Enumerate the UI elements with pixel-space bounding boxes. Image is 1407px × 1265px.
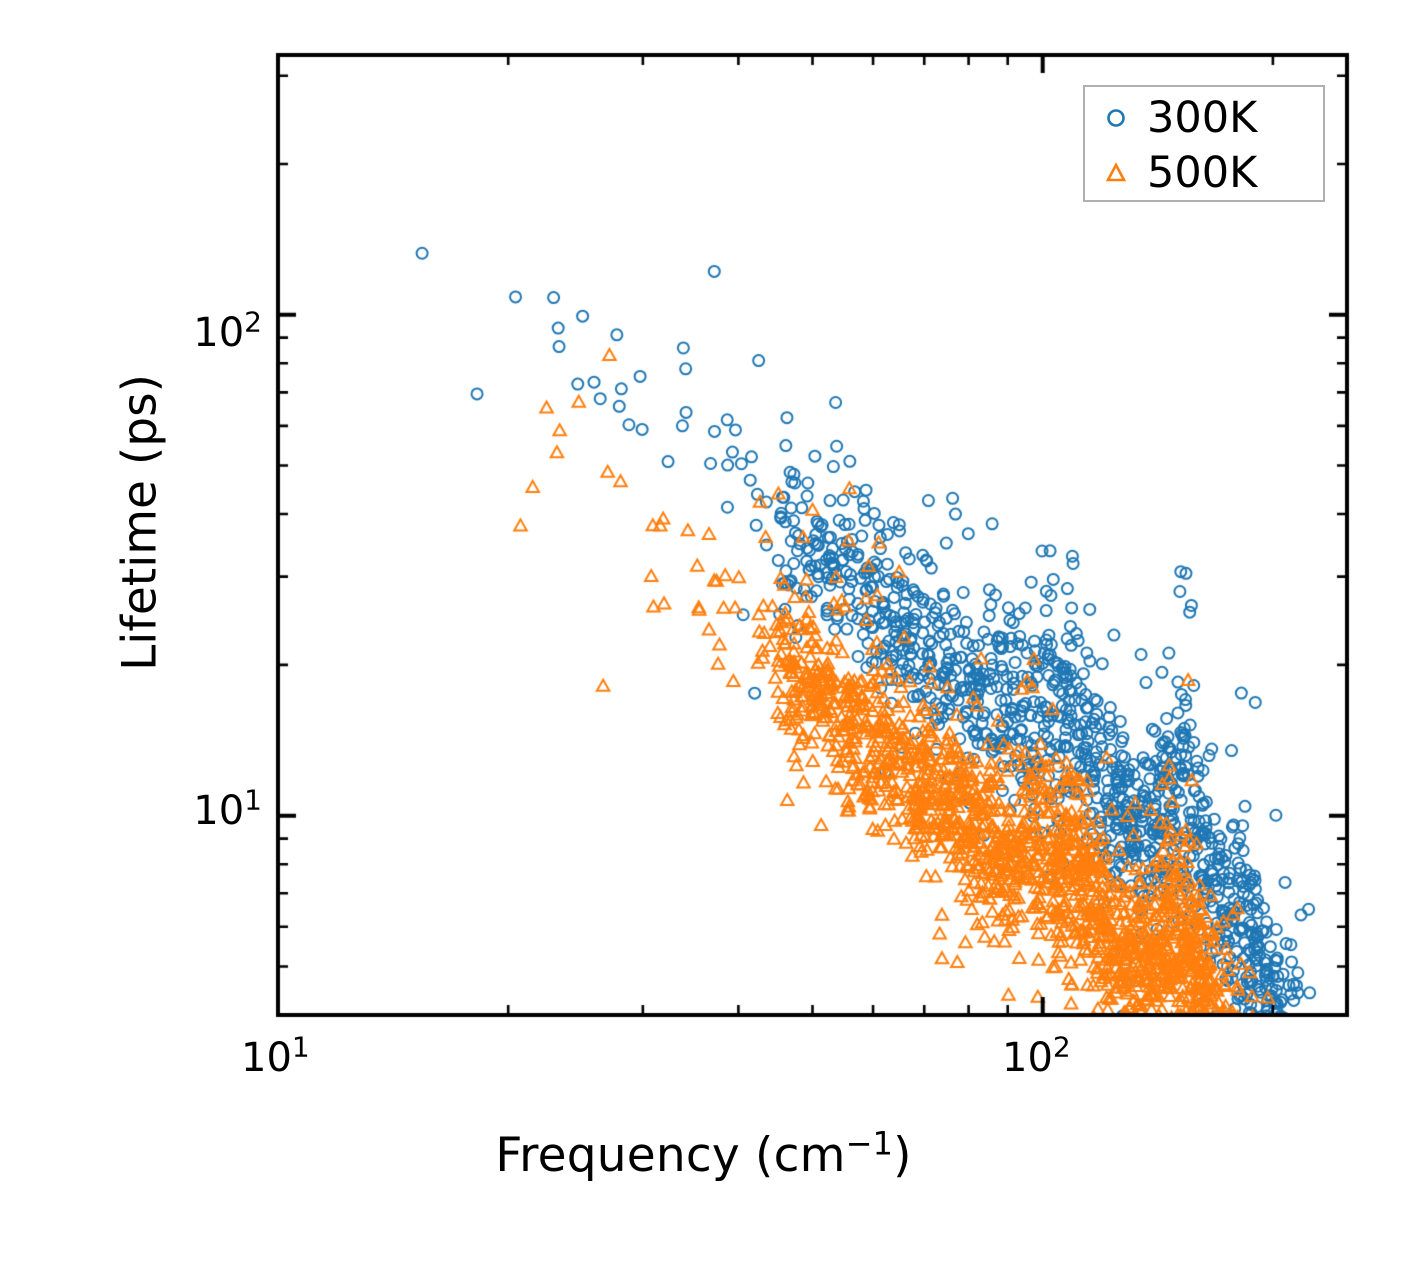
figure-root: 102 101 101 102 Frequency (cm−1) Lifetim… bbox=[0, 0, 1407, 1265]
x-tick-label-10: 101 bbox=[241, 1035, 310, 1081]
y-axis-label-container: Lifetime (ps) bbox=[113, 43, 168, 1003]
legend-marker-triangle-icon bbox=[1085, 160, 1147, 186]
y-tick-label-100: 102 bbox=[193, 310, 262, 356]
legend-entry-500k[interactable]: 500K bbox=[1085, 147, 1323, 199]
y-tick-label-10: 101 bbox=[193, 788, 262, 834]
x-axis-label: Frequency (cm−1) bbox=[0, 1128, 1407, 1183]
legend[interactable]: 300K 500K bbox=[1083, 85, 1325, 202]
legend-label-500k: 500K bbox=[1147, 148, 1257, 198]
legend-entry-300k[interactable]: 300K bbox=[1085, 92, 1323, 144]
x-tick-label-100: 102 bbox=[1002, 1035, 1071, 1081]
y-axis-label: Lifetime (ps) bbox=[113, 374, 168, 671]
legend-label-300k: 300K bbox=[1147, 93, 1257, 143]
legend-marker-circle-icon bbox=[1085, 105, 1147, 131]
